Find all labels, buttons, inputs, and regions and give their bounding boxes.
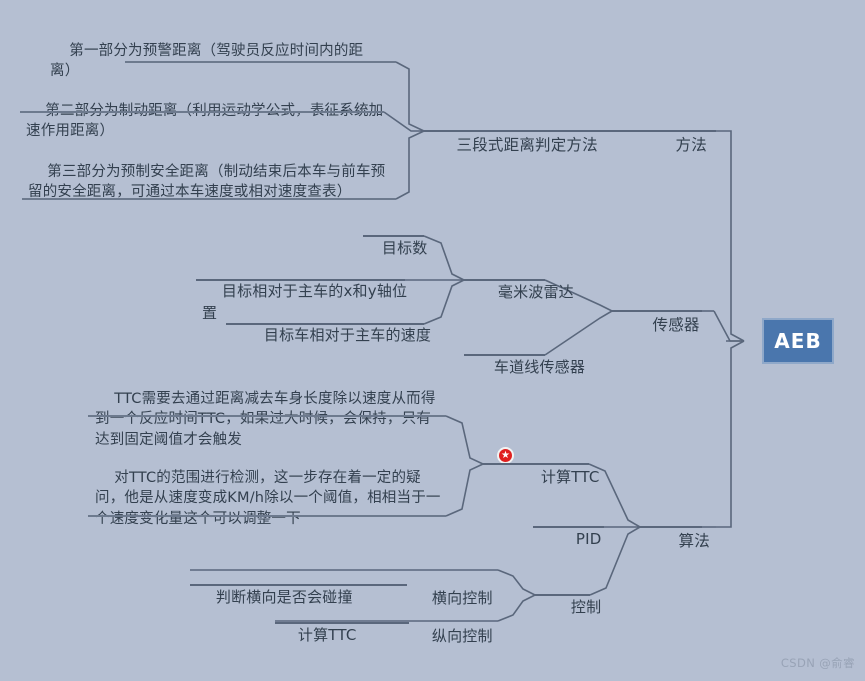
node-target-relative-speed[interactable]: 目标车相对于主车的速度 <box>244 304 444 368</box>
node-underline <box>424 130 638 132</box>
node-calculate-ttc-longitudinal[interactable]: 计算TTC <box>278 604 398 668</box>
branch-node-method[interactable]: 方法 <box>655 112 725 178</box>
node-underline <box>464 354 545 356</box>
node-label: 控制 <box>571 598 601 616</box>
node-control[interactable]: 控制 <box>551 576 611 640</box>
node-label: 第三部分为预制安全距离（制动结束后本车与前车预留的安全距离，可通过本车速度或相对… <box>28 164 385 201</box>
branch-label-sensor: 传感器 <box>653 316 700 334</box>
node-underline <box>612 310 702 312</box>
node-three-stage-distance-method[interactable]: 三段式距离判定方法 <box>436 112 636 178</box>
node-underline <box>363 235 424 237</box>
node-label: 对TTC的范围进行检测，这一步存在着一定的疑问，他是从速度变成KM/h除以一个阈… <box>95 470 441 527</box>
node-lane-line-sensor[interactable]: 车道线传感器 <box>474 336 604 400</box>
root-node-label: AEB <box>774 329 821 353</box>
watermark: CSDN @俞睿 <box>781 655 855 671</box>
node-underline <box>88 415 446 417</box>
node-underline <box>196 279 405 281</box>
node-underline <box>535 594 590 596</box>
star-glyph: ★ <box>501 451 510 461</box>
node-underline <box>640 526 702 528</box>
branch-node-algorithm[interactable]: 算法 <box>658 508 728 574</box>
node-millimeter-wave-radar[interactable]: 毫米波雷达 <box>478 261 588 325</box>
node-underline <box>22 198 396 200</box>
node-calculate-ttc[interactable]: 计算TTC <box>521 446 631 510</box>
node-label: 车道线传感器 <box>494 358 585 376</box>
node-label: PID <box>576 530 602 548</box>
node-label: 计算TTC <box>298 626 357 644</box>
node-label: 目标数 <box>382 239 428 257</box>
node-underline <box>226 323 424 325</box>
node-underline <box>20 111 384 113</box>
node-underline <box>464 279 545 281</box>
node-pid[interactable]: PID <box>556 508 616 572</box>
node-preset-safety-distance[interactable]: 第三部分为预制安全距离（制动结束后本车与前车预留的安全距离，可通过本车速度或相对… <box>28 141 388 223</box>
node-label: 毫米波雷达 <box>498 283 574 301</box>
branch-node-sensor[interactable]: 传感器 <box>632 292 718 358</box>
node-label: 目标车相对于主车的速度 <box>264 326 431 344</box>
node-label: 纵向控制 <box>432 627 493 645</box>
node-underline <box>190 584 407 586</box>
star-icon: ★ <box>497 447 514 464</box>
branch-label-method: 方法 <box>676 136 707 154</box>
node-label: 三段式距离判定方法 <box>457 136 598 154</box>
node-underline <box>638 130 716 132</box>
node-underline <box>125 61 396 63</box>
node-underline <box>533 526 604 528</box>
node-label: 第二部分为制动距离（利用运动学公式，表征系统加速作用距离） <box>26 103 383 140</box>
node-ttc-range-detection-question[interactable]: 对TTC的范围进行检测，这一步存在着一定的疑问，他是从速度变成KM/h除以一个阈… <box>95 447 445 550</box>
node-underline <box>483 463 589 465</box>
branch-label-algorithm: 算法 <box>679 532 710 550</box>
node-underline <box>88 515 446 517</box>
node-longitudinal-control[interactable]: 纵向控制 <box>412 605 502 669</box>
mindmap-canvas: AEB 方法 传感器 算法 三段式距离判定方法 第一部分为预警距离（驾驶员反应时… <box>0 0 865 681</box>
node-label: TTC需要去通过距离减去车身长度除以速度从而得到一个反应时间TTC，如果过大时候… <box>95 391 436 448</box>
node-underline <box>275 622 409 624</box>
node-label: 计算TTC <box>541 468 600 486</box>
root-node-aeb[interactable]: AEB <box>762 318 834 364</box>
